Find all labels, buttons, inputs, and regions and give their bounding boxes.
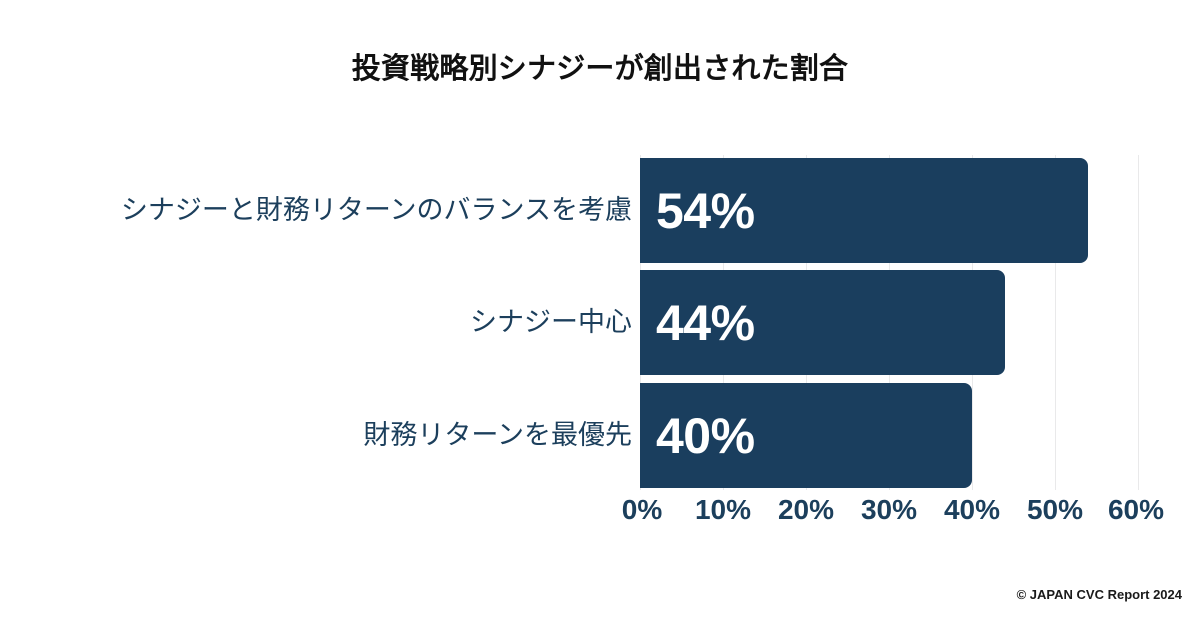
chart-container: 投資戦略別シナジーが創出された割合 シナジーと財務リターンのバランスを考慮 シナ… [0, 0, 1200, 630]
bar-row: 44% [640, 270, 1138, 375]
bar-row: 40% [640, 383, 1138, 488]
category-label-group: シナジーと財務リターンのバランスを考慮 シナジー中心 財務リターンを最優先 [0, 155, 632, 490]
x-axis-tick: 50% [1027, 493, 1083, 527]
x-axis-tick: 60% [1108, 493, 1164, 527]
bar-value-label: 40% [656, 411, 755, 461]
x-axis-tick: 30% [861, 493, 917, 527]
copyright-credit: © JAPAN CVC Report 2024 [1017, 587, 1182, 602]
x-axis-tick: 10% [695, 493, 751, 527]
category-label: シナジー中心 [0, 270, 632, 375]
plot-area: 54% 44% 40% [640, 155, 1138, 490]
x-axis-tick: 0% [622, 493, 662, 527]
x-axis-tick: 40% [944, 493, 1000, 527]
chart-title: 投資戦略別シナジーが創出された割合 [0, 50, 1200, 88]
x-axis-tick: 20% [778, 493, 834, 527]
bar-synergy-focused[interactable]: 44% [640, 270, 1005, 375]
bar-row: 54% [640, 158, 1138, 263]
category-label: 財務リターンを最優先 [0, 383, 632, 488]
bar-synergy-balance[interactable]: 54% [640, 158, 1088, 263]
bar-value-label: 54% [656, 186, 755, 236]
bar-value-label: 44% [656, 298, 755, 348]
bar-group: 54% 44% 40% [640, 155, 1138, 490]
x-axis: 0% 10% 20% 30% 40% 50% 60% [640, 493, 1138, 533]
gridline-60 [1138, 155, 1139, 490]
bar-financial-return-first[interactable]: 40% [640, 383, 972, 488]
category-label: シナジーと財務リターンのバランスを考慮 [0, 158, 632, 263]
